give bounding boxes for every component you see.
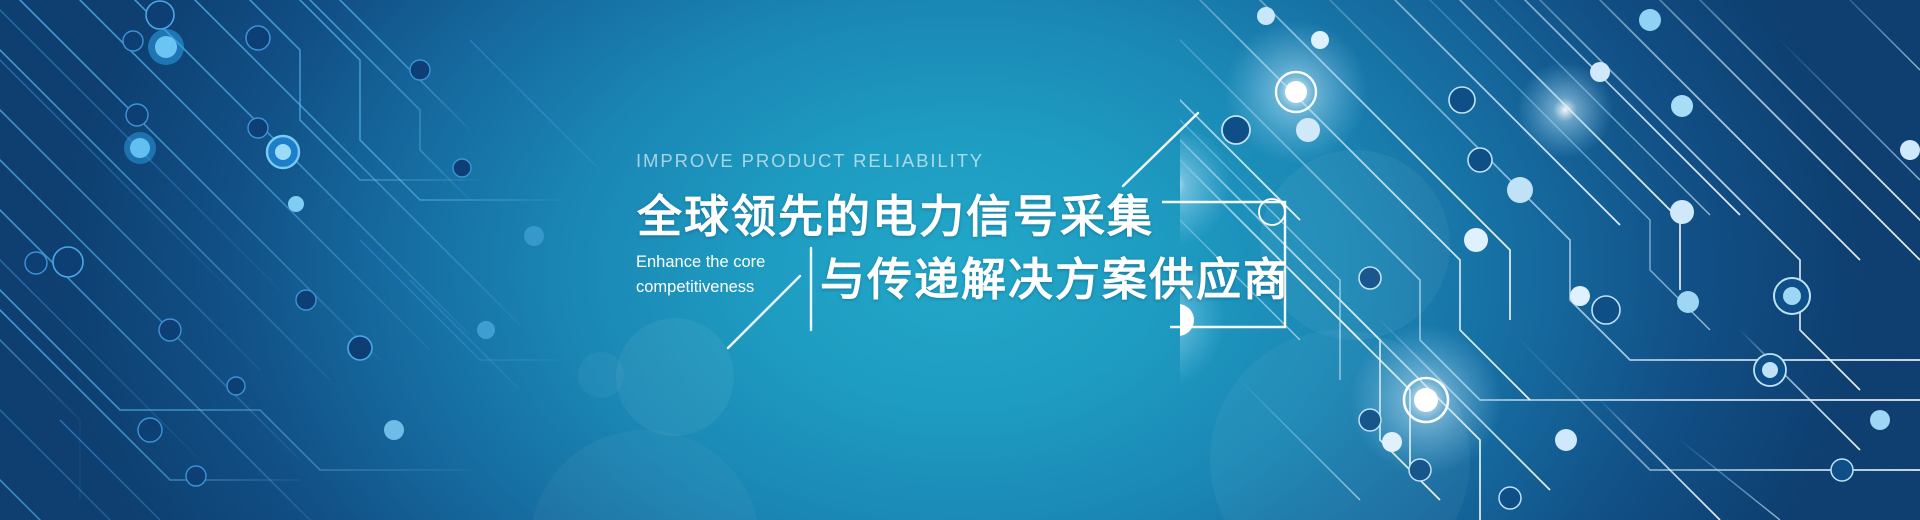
hero-copy-block: IMPROVE PRODUCT RELIABILITY 全球领先的电力信号采集 … (636, 150, 1336, 370)
headline-line-2: 与传递解决方案供应商 (820, 243, 1290, 308)
headline-line-1: 全球领先的电力信号采集 (637, 180, 1154, 245)
bokeh-circle-small (578, 352, 624, 398)
circuit-pattern-left (0, 0, 620, 520)
eyebrow-text: IMPROVE PRODUCT RELIABILITY (636, 150, 984, 172)
hero-banner: IMPROVE PRODUCT RELIABILITY 全球领先的电力信号采集 … (0, 0, 1920, 520)
bokeh-circle-bottom (530, 430, 760, 520)
subcopy-text: Enhance the core competitiveness (636, 250, 786, 300)
